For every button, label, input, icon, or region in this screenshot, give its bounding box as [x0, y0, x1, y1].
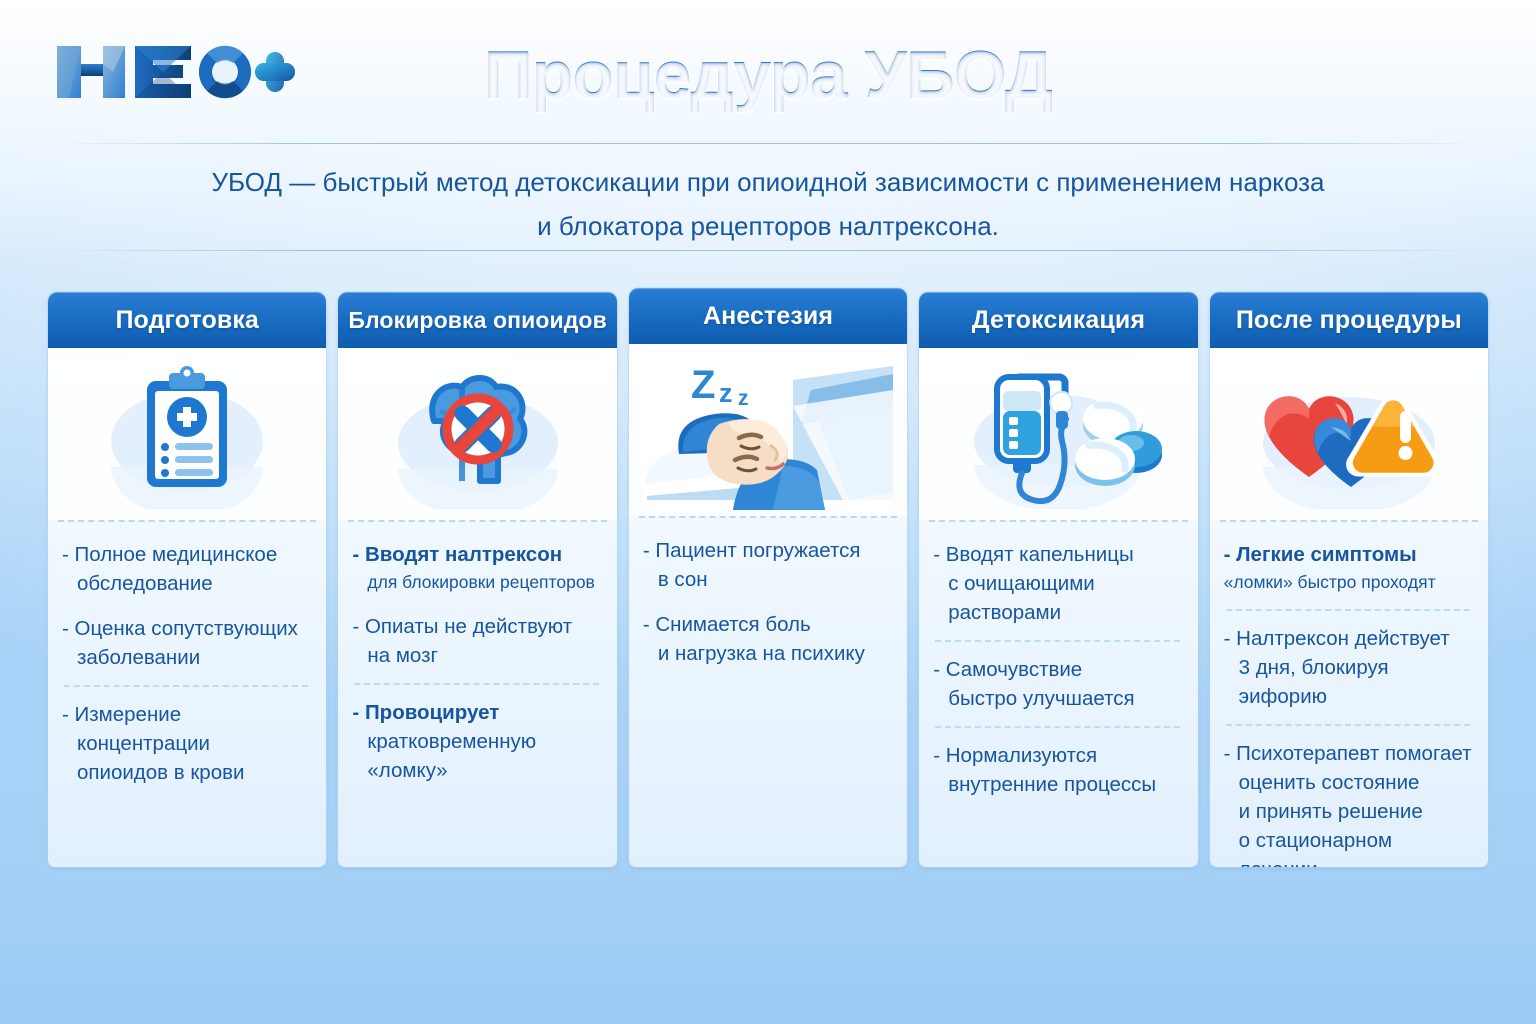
item-cont: кратковременную: [352, 727, 602, 756]
hearts-warning-icon: [1210, 348, 1488, 520]
item-lead: Снимается боль: [655, 613, 810, 636]
step-card-opioid-blocking[interactable]: Блокировка опиоидов - Вв: [338, 292, 616, 867]
item-lead: Психотерапевт помогает: [1236, 742, 1471, 765]
item-lead: Оценка сопутствующих: [75, 617, 298, 640]
divider-top: [52, 143, 1484, 144]
bullet-dash: -: [352, 701, 365, 724]
subtitle-line-1: УБОД — быстрый метод детоксикации при оп…: [0, 160, 1536, 204]
item-lead: Провоцирует: [365, 701, 499, 724]
item-divider: [354, 683, 598, 685]
item-divider: [1226, 724, 1470, 726]
item-cont: о стационарном лечении: [1224, 826, 1474, 867]
list-item: - Психотерапевт помогает оценить состоян…: [1224, 739, 1474, 867]
item-cont: растворами: [933, 598, 1183, 627]
bullet-dash: -: [1224, 543, 1237, 566]
item-cont: и принять решение: [1224, 797, 1474, 826]
bullet-dash: -: [62, 543, 75, 566]
step-card-detoxification[interactable]: Детоксикация: [919, 292, 1197, 867]
item-lead: Опиаты не действуют: [365, 615, 572, 638]
card-body-preparation: - Полное медицинское обследование - Оцен…: [48, 522, 326, 867]
item-cont: 3 дня, блокируя эифорию: [1224, 653, 1474, 711]
list-item: - Пациент погружается в сон: [643, 536, 893, 594]
list-item: - Налтрексон действует 3 дня, блокируя э…: [1224, 624, 1474, 711]
list-item: - Полное медицинское обследование: [62, 540, 312, 598]
item-lead: Вводят капельницы: [946, 543, 1134, 566]
item-lead: Пациент погружается: [655, 539, 860, 562]
bullet-dash: -: [352, 543, 365, 566]
list-item: - Самочувствие быстро улучшается: [933, 655, 1183, 713]
item-lead: Налтрексон действует: [1236, 627, 1449, 650]
item-cont: внутренние процессы: [933, 770, 1183, 799]
item-lead: Вводят налтрексон: [365, 543, 562, 566]
item-lead: Легкие симптомы: [1236, 543, 1417, 566]
page-title: Процедура УБОД: [0, 36, 1536, 114]
card-header-detoxification: Детоксикация: [919, 292, 1197, 348]
item-lead: Измерение концентрации: [75, 703, 210, 755]
list-item: - Измерение концентрации опиоидов в кров…: [62, 700, 312, 787]
card-body-after-procedure: - Легкие симптомы «ломки» быстро проходя…: [1210, 522, 1488, 867]
item-cont: оценить состояние: [1224, 768, 1474, 797]
step-card-anesthesia[interactable]: Анестезия Z z z: [629, 288, 907, 867]
item-cont: на мозг: [352, 641, 602, 670]
bullet-dash: -: [933, 658, 946, 681]
item-lead: Самочувствие: [946, 658, 1082, 681]
item-divider: [64, 685, 308, 687]
item-cont: в сон: [643, 565, 893, 594]
card-header-preparation: Подготовка: [48, 292, 326, 348]
list-item: - Оценка сопутствующих заболевании: [62, 614, 312, 672]
item-cont: заболевании: [62, 643, 312, 672]
card-header-anesthesia: Анестезия: [629, 288, 907, 344]
item-divider: [1226, 609, 1470, 611]
item-cont: «ломку»: [352, 756, 602, 785]
bullet-dash: -: [62, 617, 75, 640]
bullet-dash: -: [1224, 742, 1237, 765]
list-item: - Опиаты не действуют на мозг: [352, 612, 602, 670]
bullet-dash: -: [62, 703, 75, 726]
subtitle-line-2: и блокатора рецепторов налтрексона.: [0, 204, 1536, 248]
brain-blocked-icon: [338, 348, 616, 520]
page-subtitle: УБОД — быстрый метод детоксикации при оп…: [0, 160, 1536, 248]
list-item: - Вводят капельницы с очищающими раствор…: [933, 540, 1183, 627]
card-body-opioid-blocking: - Вводят налтрексон для блокировки рецеп…: [338, 522, 616, 867]
zzz-text: Z: [691, 363, 715, 407]
divider-bottom: [52, 250, 1484, 251]
bullet-dash: -: [933, 543, 946, 566]
svg-text:z: z: [719, 378, 733, 408]
list-item: - Вводят налтрексон для блокировки рецеп…: [352, 540, 602, 596]
item-sub: «ломки» быстро проходят: [1224, 569, 1474, 596]
bullet-dash: -: [933, 744, 946, 767]
item-cont: обследование: [62, 569, 312, 598]
card-header-after-procedure: После процедуры: [1210, 292, 1488, 348]
iv-drip-pills-icon: [919, 348, 1197, 520]
step-card-preparation[interactable]: Подготовка - Пол: [48, 292, 326, 867]
list-item: - Снимается боль и нагрузка на психику: [643, 610, 893, 668]
steps-container: Подготовка - Пол: [48, 292, 1488, 867]
item-sub: для блокировки рецепторов: [352, 569, 602, 596]
card-body-detoxification: - Вводят капельницы с очищающими раствор…: [919, 522, 1197, 867]
item-lead: Полное медицинское: [75, 543, 278, 566]
item-cont: и нагрузка на психику: [643, 639, 893, 668]
item-divider: [935, 726, 1179, 728]
list-item: - Легкие симптомы «ломки» быстро проходя…: [1224, 540, 1474, 596]
clipboard-medical-icon: [48, 348, 326, 520]
sleeping-patient-icon: Z z z: [629, 344, 907, 516]
list-item: - Провоцирует кратковременную «ломку»: [352, 698, 602, 785]
bullet-dash: -: [643, 613, 656, 636]
card-header-opioid-blocking: Блокировка опиоидов: [338, 292, 616, 348]
item-cont: быстро улучшается: [933, 684, 1183, 713]
item-lead: Нормализуются: [946, 744, 1097, 767]
bullet-dash: -: [352, 615, 365, 638]
item-divider: [935, 640, 1179, 642]
card-body-anesthesia: - Пациент погружается в сон - Снимается …: [629, 518, 907, 867]
bullet-dash: -: [643, 539, 656, 562]
list-item: - Нормализуются внутренние процессы: [933, 741, 1183, 799]
svg-text:z: z: [738, 387, 749, 410]
item-cont: опиоидов в крови: [62, 758, 312, 787]
step-card-after-procedure[interactable]: После процедуры: [1210, 292, 1488, 867]
item-cont: с очищающими: [933, 569, 1183, 598]
bullet-dash: -: [1224, 627, 1237, 650]
